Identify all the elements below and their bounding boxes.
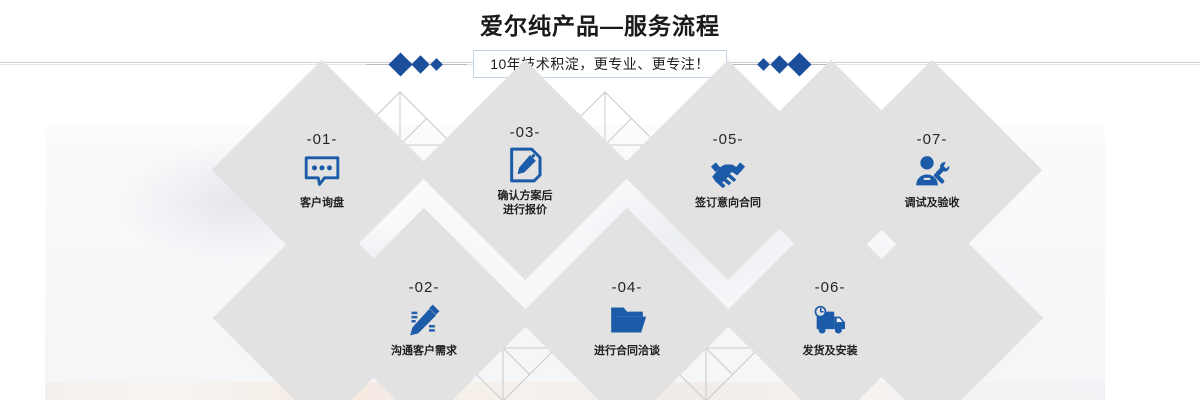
page-title: 爱尔纯产品—服务流程 [0,12,1200,40]
step-label: 进行合同洽谈 [594,344,660,358]
step-number: -06- [815,279,846,296]
diamond-icon [770,55,788,73]
delivery-truck-icon [810,300,850,340]
diamond-icon [430,58,443,71]
folder-icon [607,300,647,340]
flow-step-05[interactable]: -05- 签订意向合同 [650,92,806,248]
step-number: -02- [409,279,440,296]
technician-wrench-icon [912,152,952,192]
flow-step-02[interactable]: -02- 沟通客户需求 [346,240,502,396]
step-label: 调试及验收 [905,196,960,210]
step-label: 发货及安装 [803,344,858,358]
flow-step-01[interactable]: -01- 客户询盘 [244,92,400,248]
diamond-group-left [392,56,441,73]
handshake-icon [708,152,748,192]
step-label: 确认方案后 进行报价 [498,189,553,217]
service-flow-banner: 爱尔纯产品—服务流程 10年技术积淀，更专业、更专注！ [0,0,1200,400]
step-label: 沟通客户需求 [391,344,457,358]
subtitle-rule-inner-right [733,64,759,65]
flow-step-06[interactable]: -06- 发货及安装 [752,240,908,396]
flow-step-03[interactable]: -03- 确认方案后 进行报价 [447,92,603,248]
chat-bubble-icon [302,152,342,192]
diamond-group-right [759,56,808,73]
step-number: -04- [612,279,643,296]
diamond-icon [787,52,811,76]
document-pen-icon [505,145,545,185]
step-label: 签订意向合同 [695,196,761,210]
diamond-icon [412,55,430,73]
flow-step-04[interactable]: -04- 进行合同洽谈 [549,240,705,396]
flow-step-07[interactable]: -07- 调试及验收 [854,92,1010,248]
subtitle-rule-inner-left [441,64,467,65]
diamond-icon [757,58,770,71]
pen-edit-icon [404,300,444,340]
diamond-icon [389,52,413,76]
step-number: -01- [307,131,338,148]
flow-diagram: -01- 客户询盘 -02- [0,88,1200,388]
subtitle-bar: 10年技术积淀，更专业、更专注！ [0,49,1200,79]
step-number: -07- [917,131,948,148]
step-number: -05- [713,131,744,148]
step-number: -03- [510,124,541,141]
step-label: 客户询盘 [300,196,344,210]
